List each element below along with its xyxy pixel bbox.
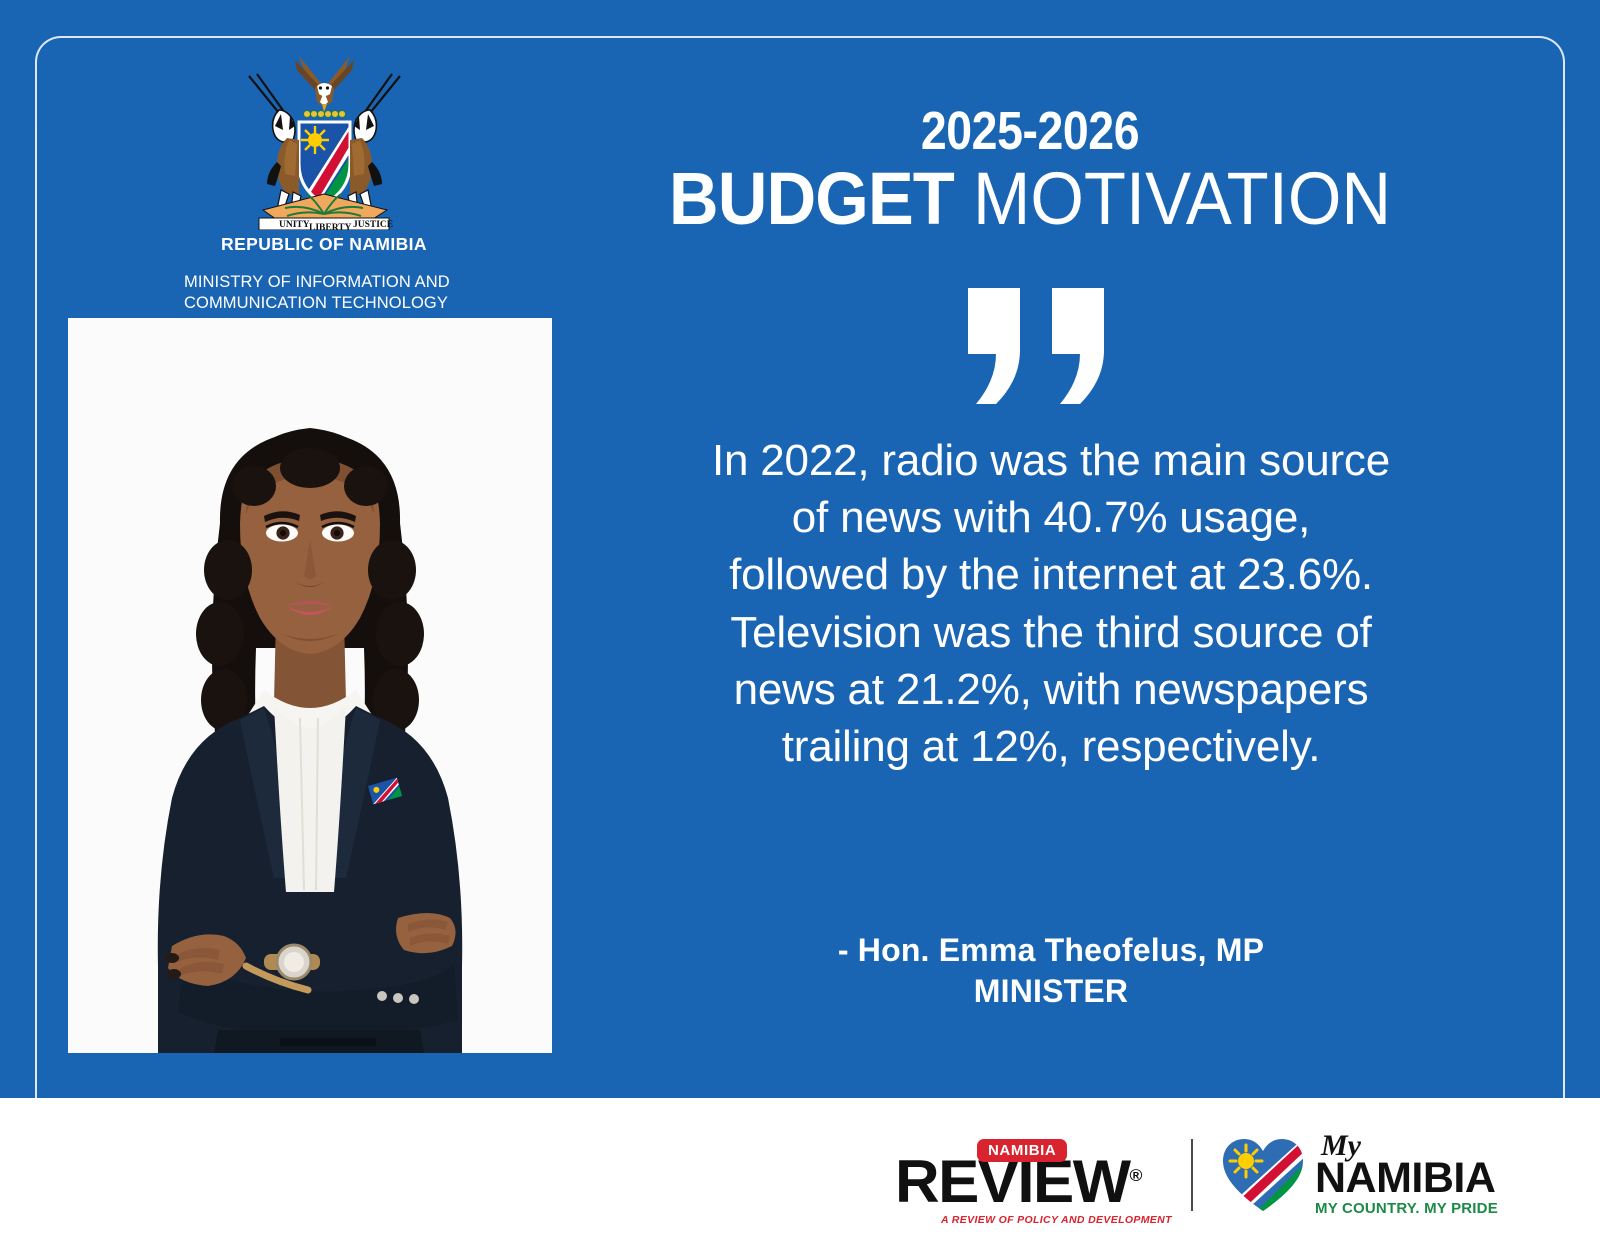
quote-body: In 2022, radio was the main source of ne… <box>586 432 1516 775</box>
footer-logo-group: NAMIBIA REVIEW® A REVIEW OF POLICY AND D… <box>895 1106 1498 1244</box>
quote-line-5: news at 21.2%, with newspapers <box>586 661 1516 718</box>
quote-line-6: trailing at 12%, respectively. <box>586 718 1516 775</box>
quote-attribution: - Hon. Emma Theofelus, MP MINISTER <box>586 930 1516 1012</box>
attribution-title: MINISTER <box>586 971 1516 1012</box>
headline-title: BUDGET MOTIVATION <box>565 160 1495 238</box>
poster-headline: 2025-2026 BUDGET MOTIVATION <box>530 104 1530 238</box>
registered-trademark-icon: ® <box>1130 1166 1141 1185</box>
budget-motivation-poster: UNITY LIBERTY JUSTICE REPUBLIC OF NAMIBI… <box>0 0 1600 1253</box>
my-namibia-wordmark: My NAMIBIA MY COUNTRY. MY PRIDE <box>1315 1133 1498 1216</box>
svg-text:JUSTICE: JUSTICE <box>353 220 393 230</box>
attribution-name: - Hon. Emma Theofelus, MP <box>586 930 1516 971</box>
republic-label: REPUBLIC OF NAMIBIA <box>178 234 470 255</box>
namibia-review-logo: NAMIBIA REVIEW® A REVIEW OF POLICY AND D… <box>895 1139 1167 1211</box>
quote-line-4: Television was the third source of <box>586 604 1516 661</box>
ministry-line-2: COMMUNICATION TECHNOLOGY <box>184 293 470 314</box>
namibia-coat-of-arms-icon: UNITY LIBERTY JUSTICE <box>237 44 412 230</box>
headline-word-motivation: MOTIVATION <box>973 157 1391 240</box>
budget-year: 2025-2026 <box>600 104 1460 158</box>
footer-bar: NAMIBIA REVIEW® A REVIEW OF POLICY AND D… <box>0 1098 1600 1253</box>
ministry-name: MINISTRY OF INFORMATION AND COMMUNICATIO… <box>178 272 470 314</box>
quote-line-3: followed by the internet at 23.6%. <box>586 546 1516 603</box>
headline-word-budget: BUDGET <box>669 157 954 240</box>
svg-text:LIBERTY: LIBERTY <box>309 223 352 230</box>
minister-portrait <box>68 318 552 1053</box>
quote-line-1: In 2022, radio was the main source <box>586 432 1516 489</box>
review-badge-namibia: NAMIBIA <box>977 1139 1067 1162</box>
my-namibia-tagline: MY COUNTRY. MY PRIDE <box>1315 1200 1498 1217</box>
logo-divider <box>1191 1139 1193 1211</box>
ministry-line-1: MINISTRY OF INFORMATION AND <box>184 272 470 293</box>
my-namibia-logo: My NAMIBIA MY COUNTRY. MY PRIDE <box>1219 1133 1498 1216</box>
quote-line-2: of news with 40.7% usage, <box>586 489 1516 546</box>
closing-quote-icon <box>962 288 1122 406</box>
review-tagline: A REVIEW OF POLICY AND DEVELOPMENT <box>941 1214 1213 1226</box>
my-namibia-namibia: NAMIBIA <box>1315 1159 1498 1199</box>
minister-portrait-image <box>68 318 552 1053</box>
svg-text:UNITY: UNITY <box>279 220 310 230</box>
ministry-branding-block: UNITY LIBERTY JUSTICE REPUBLIC OF NAMIBI… <box>178 44 470 314</box>
namibia-flag-heart-icon <box>1219 1135 1307 1215</box>
